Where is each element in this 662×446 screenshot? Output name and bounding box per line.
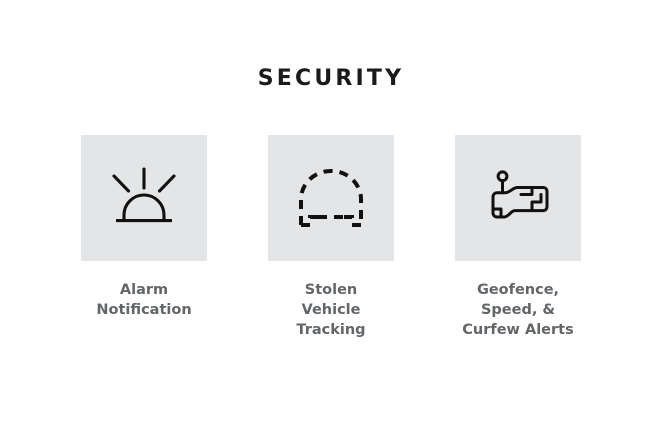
icon-tile — [455, 135, 581, 261]
security-feature-section: SECURITY — [0, 0, 662, 446]
icon-tile — [268, 135, 394, 261]
geofence-map-pin-icon — [485, 169, 551, 227]
feature-card-alarm-notification[interactable]: Alarm Notification — [81, 135, 207, 320]
feature-card-label: Alarm Notification — [69, 280, 219, 320]
page-title: SECURITY — [0, 68, 662, 90]
dashed-car-outline-icon — [291, 165, 371, 231]
feature-card-list: Alarm Notification S — [0, 135, 662, 340]
alarm-siren-icon — [107, 167, 181, 229]
feature-card-geofence-speed-curfew-alerts[interactable]: Geofence, Speed, & Curfew Alerts — [455, 135, 581, 340]
feature-card-label: Geofence, Speed, & Curfew Alerts — [443, 280, 593, 340]
feature-card-label: Stolen Vehicle Tracking — [256, 280, 406, 340]
feature-card-stolen-vehicle-tracking[interactable]: Stolen Vehicle Tracking — [268, 135, 394, 340]
icon-tile — [81, 135, 207, 261]
